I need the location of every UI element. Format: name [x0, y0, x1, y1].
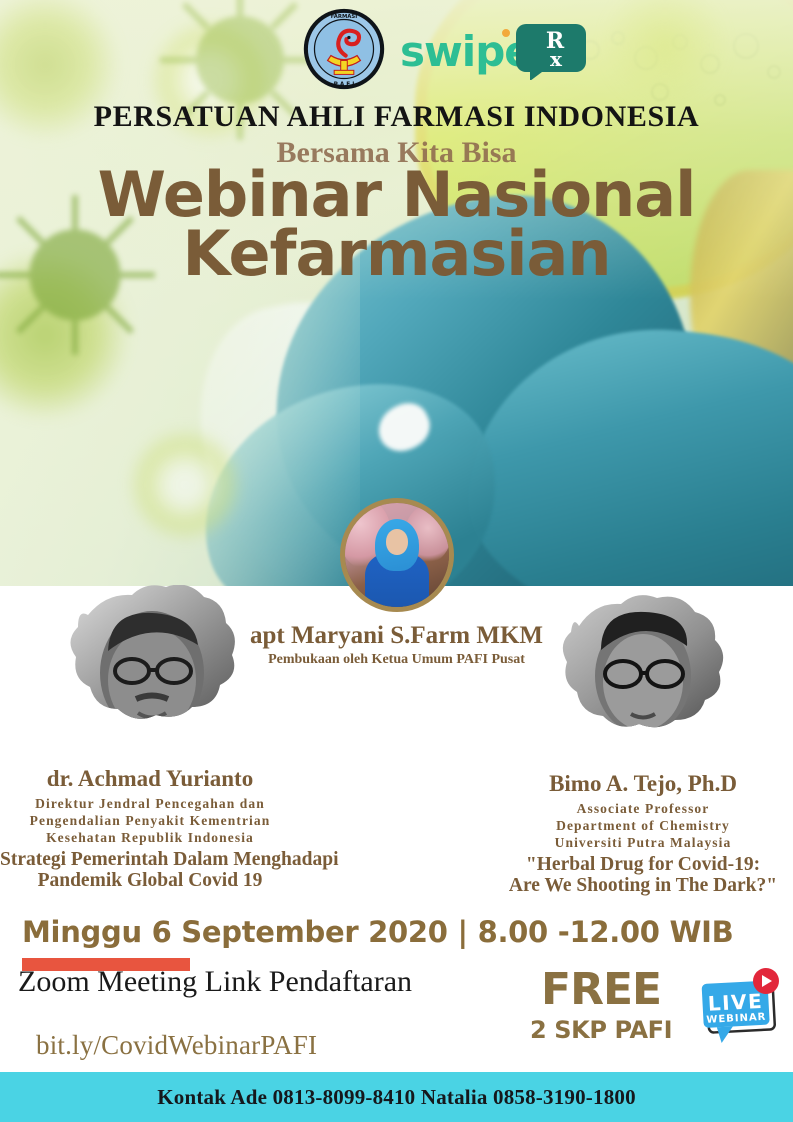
- affiliation-line: Direktur Jendral Pencegahan dan: [0, 796, 300, 813]
- page-title: Webinar Nasional Kefarmasian: [0, 166, 793, 284]
- featured-speaker-avatar: [340, 498, 454, 612]
- poster-header: FARMASI ★ P A F I ★ swipe R x PERSATUAN …: [0, 0, 793, 90]
- price-label: FREE: [530, 968, 672, 1012]
- affiliation-line: Department of Chemistry: [493, 818, 793, 835]
- affiliation-line: Pengendalian Penyakit Kementrian: [0, 813, 300, 830]
- topic-line: Are We Shooting in The Dark?": [493, 875, 793, 896]
- webinar-poster: FARMASI ★ P A F I ★ swipe R x PERSATUAN …: [0, 0, 793, 1122]
- speaker-card-left: dr. Achmad Yurianto Direktur Jendral Pen…: [0, 585, 300, 892]
- swiperx-logo-icon: swipe R x: [398, 20, 588, 80]
- speaker-photo-right: [533, 592, 753, 767]
- topic-line: Pandemik Global Covid 19: [0, 870, 300, 891]
- speaker-name-right: Bimo A. Tejo, Ph.D: [493, 771, 793, 797]
- speaker-name-left: dr. Achmad Yurianto: [0, 766, 300, 792]
- svg-text:x: x: [550, 47, 563, 71]
- affiliation-line: Universiti Putra Malaysia: [493, 835, 793, 852]
- speaker-affiliation-right: Associate Professor Department of Chemis…: [493, 801, 793, 852]
- logo-row: FARMASI ★ P A F I ★ swipe R x: [0, 0, 793, 90]
- contact-text: Kontak Ade 0813-8099-8410 Natalia 0858-3…: [157, 1085, 636, 1110]
- contact-bar: Kontak Ade 0813-8099-8410 Natalia 0858-3…: [0, 1072, 793, 1122]
- live-webinar-badge-icon: LIVE WEBINAR: [694, 965, 788, 1057]
- topic-line: Strategi Pemerintah Dalam Menghadapi: [0, 849, 300, 870]
- speaker-topic-left: Strategi Pemerintah Dalam Menghadapi Pan…: [0, 849, 300, 892]
- speaker-affiliation-left: Direktur Jendral Pencegahan dan Pengenda…: [0, 796, 300, 847]
- svg-text:★ P A F I ★: ★ P A F I ★: [327, 81, 362, 88]
- event-datetime: Minggu 6 September 2020 | 8.00 -12.00 WI…: [22, 915, 733, 949]
- organization-name: PERSATUAN AHLI FARMASI INDONESIA: [0, 100, 793, 134]
- platform-registration-label: Zoom Meeting Link Pendaftaran: [18, 965, 412, 999]
- pafi-logo-icon: FARMASI ★ P A F I ★: [303, 8, 385, 90]
- speaker-topic-right: "Herbal Drug for Covid-19: Are We Shooti…: [493, 854, 793, 897]
- svg-text:FARMASI: FARMASI: [331, 14, 358, 20]
- title-line-2: Kefarmasian: [0, 225, 793, 284]
- topic-line: "Herbal Drug for Covid-19:: [493, 854, 793, 875]
- price-block: FREE 2 SKP PAFI: [530, 968, 672, 1044]
- affiliation-line: Kesehatan Republik Indonesia: [0, 830, 300, 847]
- affiliation-line: Associate Professor: [493, 801, 793, 818]
- speaker-card-right: Bimo A. Tejo, Ph.D Associate Professor D…: [493, 592, 793, 897]
- svg-text:swipe: swipe: [400, 27, 532, 76]
- registration-link[interactable]: bit.ly/CovidWebinarPAFI: [36, 1030, 317, 1061]
- speaker-photo-left: [40, 585, 260, 760]
- credits-label: 2 SKP PAFI: [530, 1016, 672, 1044]
